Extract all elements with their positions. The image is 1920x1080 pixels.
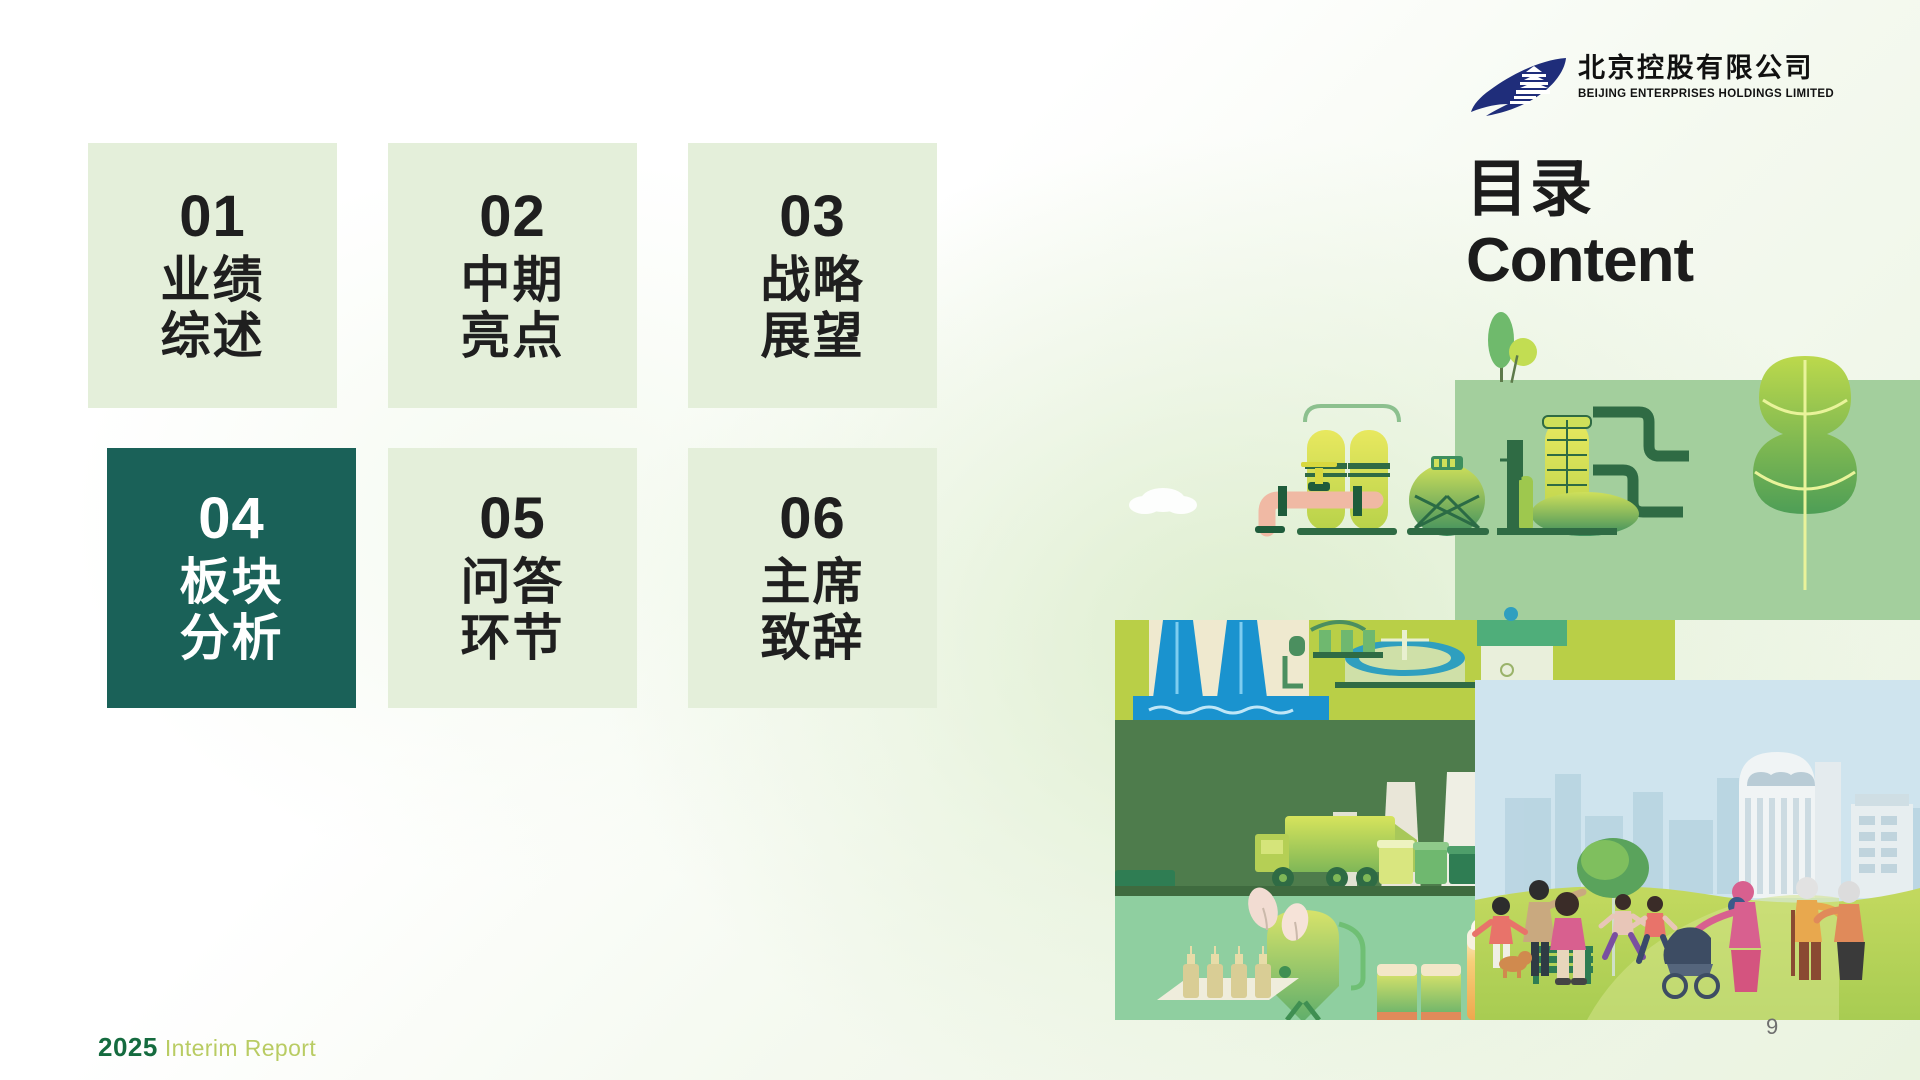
footer-year: 2025 <box>98 1032 158 1062</box>
footer: 2025Interim Report <box>98 1032 316 1063</box>
agenda-label-line1: 主席 <box>761 554 865 610</box>
agenda-number: 04 <box>198 490 265 548</box>
agenda-card-02[interactable]: 02 中期 亮点 <box>388 143 637 408</box>
agenda-card-06[interactable]: 06 主席 致辞 <box>688 448 937 708</box>
agenda-card-grid: 01 业绩 综述 02 中期 亮点 03 战略 展望 04 板块 分析 <box>88 143 938 708</box>
agenda-label: 中期 亮点 <box>461 252 565 364</box>
page-title: 目录 Content <box>1466 158 1693 295</box>
agenda-label-line1: 战略 <box>761 252 865 308</box>
agenda-label-line2: 亮点 <box>461 308 565 364</box>
agenda-label: 问答 环节 <box>461 554 565 666</box>
agenda-card-01[interactable]: 01 业绩 综述 <box>88 143 337 408</box>
title-chinese: 目录 <box>1466 158 1693 220</box>
agenda-label: 业绩 综述 <box>161 252 265 364</box>
agenda-label-line2: 分析 <box>180 610 284 666</box>
agenda-label-line2: 致辞 <box>761 610 865 666</box>
agenda-number: 01 <box>179 188 246 246</box>
agenda-label-line2: 展望 <box>761 308 865 364</box>
agenda-label-line1: 中期 <box>461 252 565 308</box>
logo-chinese-name: 北京控股有限公司 <box>1578 54 1830 84</box>
agenda-label-line1: 问答 <box>461 554 565 610</box>
footer-report-label: Interim Report <box>165 1035 316 1061</box>
company-logo: 北京控股有限公司 BEIJING ENTERPRISES HOLDINGS LI… <box>1470 52 1830 124</box>
agenda-card-05[interactable]: 05 问答 环节 <box>388 448 637 708</box>
agenda-number: 05 <box>479 490 546 548</box>
agenda-card-03[interactable]: 03 战略 展望 <box>688 143 937 408</box>
agenda-label: 主席 致辞 <box>761 554 865 666</box>
agenda-label: 战略 展望 <box>761 252 865 364</box>
agenda-number: 03 <box>779 188 846 246</box>
slide-canvas: 北京控股有限公司 BEIJING ENTERPRISES HOLDINGS LI… <box>0 0 1920 1080</box>
agenda-label-line1: 业绩 <box>161 252 265 308</box>
agenda-label: 板块 分析 <box>180 554 284 666</box>
agenda-label-line1: 板块 <box>180 554 284 610</box>
agenda-number: 06 <box>779 490 846 548</box>
beh-wing-temple-logo-icon <box>1470 56 1570 118</box>
agenda-label-line2: 综述 <box>161 308 265 364</box>
title-english: Content <box>1466 228 1693 295</box>
page-number: 9 <box>1766 1014 1778 1040</box>
green-industry-city-illustration <box>1115 300 1920 1020</box>
agenda-card-04[interactable]: 04 板块 分析 <box>107 448 356 708</box>
agenda-number: 02 <box>479 188 546 246</box>
agenda-label-line2: 环节 <box>461 610 565 666</box>
logo-english-name: BEIJING ENTERPRISES HOLDINGS LIMITED <box>1578 88 1830 100</box>
